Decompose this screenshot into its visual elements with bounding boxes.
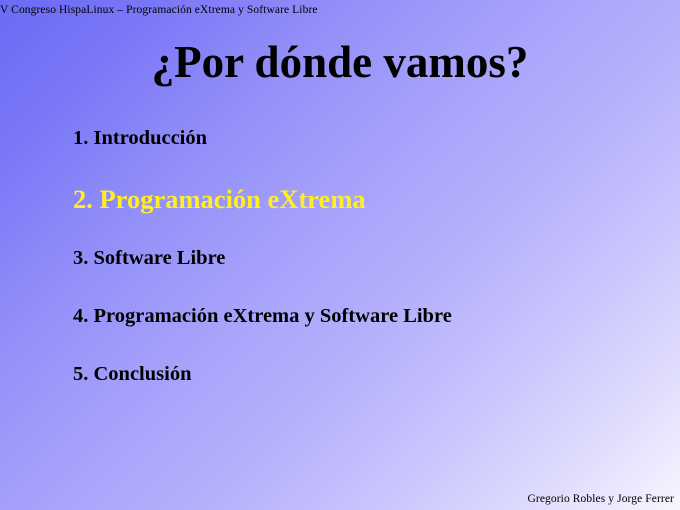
page-title: ¿Por dónde vamos? [0,36,680,88]
slide-footer: Gregorio Robles y Jorge Ferrer [0,490,674,506]
header-title-text: V Congreso HispaLinux – Programación eXt… [0,4,318,16]
agenda-item-2-active: 2. Programación eXtrema [73,184,663,246]
agenda-item-5: 5. Conclusión [73,362,663,386]
agenda-item-3: 3. Software Libre [73,246,663,304]
agenda-list: 1. Introducción 2. Programación eXtrema … [73,126,663,386]
footer-authors-text: Gregorio Robles y Jorge Ferrer [527,493,674,505]
agenda-item-4: 4. Programación eXtrema y Software Libre [73,304,663,362]
slide-header: V Congreso HispaLinux – Programación eXt… [0,1,680,17]
presentation-slide: V Congreso HispaLinux – Programación eXt… [0,0,680,510]
agenda-item-1: 1. Introducción [73,126,663,184]
